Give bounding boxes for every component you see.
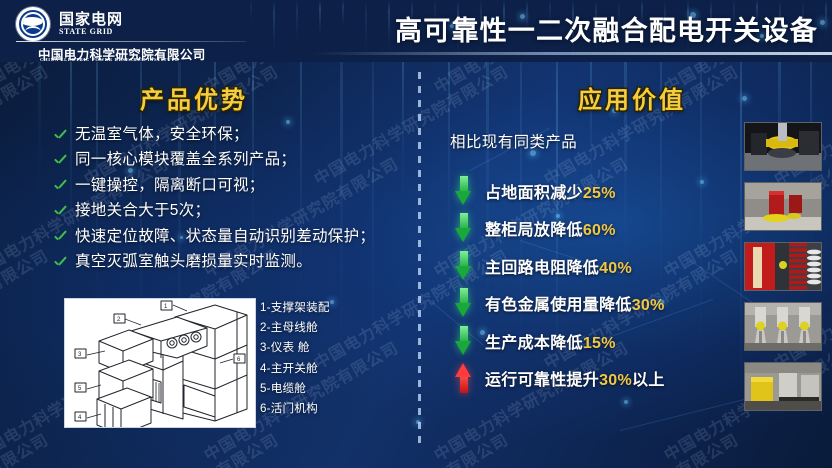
advantage-item-label: 无温室气体，安全环保； <box>75 124 249 146</box>
state-grid-logo-icon <box>16 7 50 41</box>
thumbnail-yellow-coil-assembly <box>744 122 822 171</box>
value-item: 运行可靠性提升30%以上 <box>455 360 745 398</box>
value-item-text-after: 以上 <box>632 372 665 389</box>
organization-name-en: CHINA ELECTRIC POWER RESEARCH INSTITUTE <box>40 57 179 62</box>
product-thumbnail-strip <box>744 122 822 422</box>
value-item-text-before: 生产成本降低 <box>485 335 583 352</box>
section-heading-application-value: 应用价值 <box>578 80 686 115</box>
thumbnail-red-epoxy-pole-cutaway <box>744 242 822 291</box>
check-icon <box>52 179 68 195</box>
value-item-number: 40% <box>599 260 632 277</box>
advantage-item: 无温室气体，安全环保； <box>52 124 412 146</box>
value-item-label: 有色金属使用量降低30% <box>485 291 665 315</box>
watermark-text: 中国电力科学研究院有限公司 <box>0 426 52 468</box>
diagram-callout-list: 1-支撑架装配2-主母线舱3-仪表 舱4-主开关舱5-电缆舱6-活门机构 <box>260 298 330 419</box>
title-underline-rule <box>312 52 832 55</box>
arrow-down-icon <box>455 326 472 356</box>
arrow-up-icon <box>455 363 472 393</box>
check-icon <box>52 230 68 246</box>
watermark-text: 中国电力科学研究院有限公司 <box>539 426 742 468</box>
brand-logo-block: 国家电网 STATE GRID <box>16 7 123 41</box>
thumbnail-red-insulator-bushing <box>744 182 822 231</box>
advantage-item-label: 接地关合大于5次； <box>75 200 210 222</box>
advantage-item-label: 一键操控，隔离断口可视； <box>75 175 265 197</box>
comparison-intro-text: 相比现有同类产品 <box>450 130 577 152</box>
watermark-text: 中国电力科学研究院有限公司 <box>539 58 742 189</box>
slide-root: 中国电力科学研究院有限公司中国电力科学研究院有限公司中国电力科学研究院有限公司中… <box>0 0 832 468</box>
check-icon <box>52 153 68 169</box>
diagram-callout: 2-主母线舱 <box>260 318 330 338</box>
value-item-number: 30% <box>632 297 665 314</box>
diagram-callout: 6-活门机构 <box>260 399 330 419</box>
arrow-down-icon <box>455 288 472 318</box>
value-item-label: 生产成本降低15% <box>485 329 616 353</box>
diagram-callout: 3-仪表 舱 <box>260 338 330 358</box>
watermark-text: 中国电力科学研究院有限公司 <box>309 426 512 468</box>
product-advantages-list: 无温室气体，安全环保；同一核心模块覆盖全系列产品；一键操控，隔离断口可视；接地关… <box>52 124 412 277</box>
brand-name-cn: 国家电网 <box>59 12 123 28</box>
value-item-number: 30% <box>599 372 632 389</box>
value-item: 主回路电阻降低40% <box>455 247 745 285</box>
advantage-item: 真空灭弧室触头磨损量实时监测。 <box>52 251 412 273</box>
advantage-item: 同一核心模块覆盖全系列产品； <box>52 149 412 171</box>
advantage-item-label: 同一核心模块覆盖全系列产品； <box>75 149 296 171</box>
value-item-label: 整柜局放降低60% <box>485 216 616 240</box>
value-item-text-before: 整柜局放降低 <box>485 222 583 239</box>
advantage-item: 一键操控，隔离断口可视； <box>52 175 412 197</box>
switchgear-exploded-diagram: 534 216 <box>64 298 256 428</box>
value-item: 有色金属使用量降低30% <box>455 285 745 323</box>
advantage-item-label: 快速定位故障、状态量自动识别差动保护； <box>75 226 375 248</box>
check-icon <box>52 255 68 271</box>
watermark-text: 中国电力科学研究院有限公司 <box>0 242 52 373</box>
watermark-text: 中国电力科学研究院有限公司 <box>79 426 282 468</box>
page-title: 高可靠性一二次融合配电开关设备 <box>395 9 818 48</box>
section-heading-product-advantages: 产品优势 <box>140 80 248 115</box>
column-divider <box>418 72 421 450</box>
advantage-item-label: 真空灭弧室触头磨损量实时监测。 <box>75 251 312 273</box>
arrow-down-icon <box>455 176 472 206</box>
brand-name-en: STATE GRID <box>59 27 123 36</box>
advantage-item: 接地关合大于5次； <box>52 200 412 222</box>
watermark-text: 中国电力科学研究院有限公司 <box>0 58 52 189</box>
value-item-number: 25% <box>583 185 616 202</box>
value-item-text-before: 占地面积减少 <box>485 185 583 202</box>
thumbnail-three-phase-contacts <box>744 302 822 351</box>
slide-header: 国家电网 STATE GRID 中国电力科学研究院有限公司 CHINA ELEC… <box>0 0 832 62</box>
value-item-text-before: 运行可靠性提升 <box>485 372 599 389</box>
diagram-callout: 5-电缆舱 <box>260 379 330 399</box>
value-item-label: 主回路电阻降低40% <box>485 254 632 278</box>
value-item: 生产成本降低15% <box>455 322 745 360</box>
value-item-number: 15% <box>583 335 616 352</box>
check-icon <box>52 128 68 144</box>
value-item-text-before: 有色金属使用量降低 <box>485 297 632 314</box>
thumbnail-yellow-transformer-cabinet <box>744 362 822 411</box>
diagram-callout: 4-主开关舱 <box>260 359 330 379</box>
arrow-down-icon <box>455 213 472 243</box>
value-item-text-before: 主回路电阻降低 <box>485 260 599 277</box>
application-value-list: 占地面积减少25%整柜局放降低60%主回路电阻降低40%有色金属使用量降低30%… <box>455 172 745 397</box>
value-item: 占地面积减少25% <box>455 172 745 210</box>
brand-divider-rule <box>16 41 246 42</box>
arrow-down-icon <box>455 251 472 281</box>
advantage-item: 快速定位故障、状态量自动识别差动保护； <box>52 226 412 248</box>
check-icon <box>52 204 68 220</box>
diagram-callout: 1-支撑架装配 <box>260 298 330 318</box>
watermark-text: 中国电力科学研究院有限公司 <box>769 426 832 468</box>
value-item: 整柜局放降低60% <box>455 210 745 248</box>
value-item-number: 60% <box>583 222 616 239</box>
switchgear-diagram-svg: 534 216 <box>65 299 255 427</box>
value-item-label: 运行可靠性提升30%以上 <box>485 366 665 390</box>
value-item-label: 占地面积减少25% <box>485 179 616 203</box>
